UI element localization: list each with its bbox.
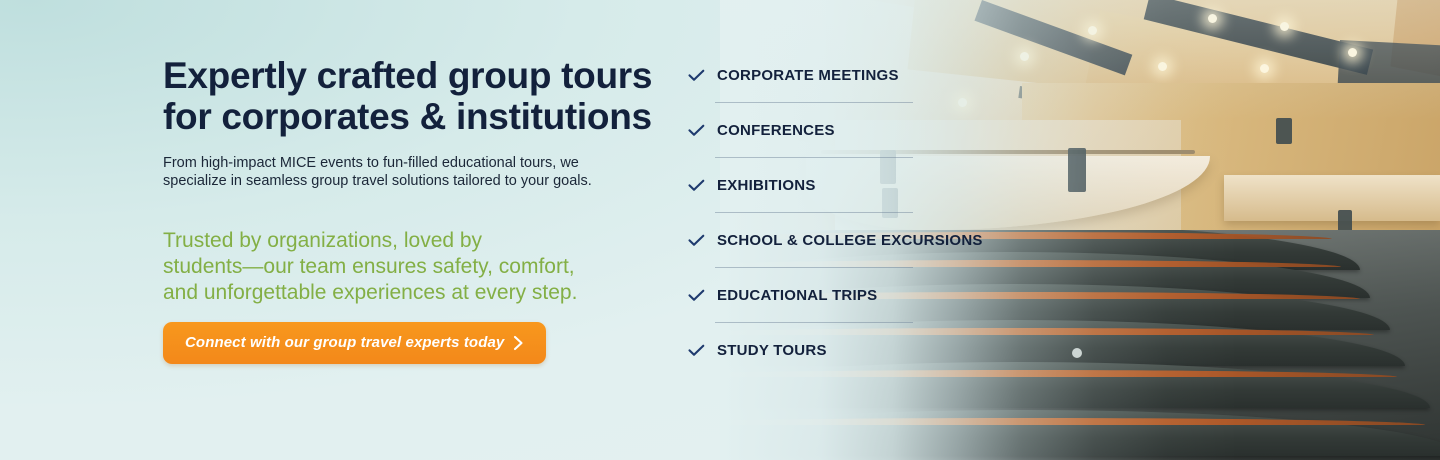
trust-line-1: Trusted by organizations, loved by [163, 229, 482, 252]
checklist-item-conferences[interactable]: CONFERENCES [688, 113, 928, 147]
checklist-divider [715, 267, 913, 268]
checklist-item-study-tours[interactable]: STUDY TOURS [688, 333, 928, 367]
hero-content: Expertly crafted group tours for corpora… [0, 0, 720, 460]
page-title: Expertly crafted group tours for corpora… [163, 55, 683, 137]
check-icon [688, 124, 705, 137]
checklist-item-label: EXHIBITIONS [717, 177, 816, 194]
hero-subtext: From high-impact MICE events to fun-fill… [163, 154, 663, 190]
checklist-item-corporate-meetings[interactable]: CORPORATE MEETINGS [688, 58, 928, 92]
spacer [688, 312, 928, 322]
subtext-line-1: From high-impact MICE events to fun-fill… [163, 155, 579, 171]
hero-trust-statement: Trusted by organizations, loved by stude… [163, 228, 683, 306]
spacer [688, 158, 928, 168]
spacer [688, 147, 928, 157]
checklist-item-exhibitions[interactable]: EXHIBITIONS [688, 168, 928, 202]
service-checklist: CORPORATE MEETINGS CONFERENCES EXHIBITIO… [688, 58, 928, 367]
trust-line-2: students—our team ensures safety, comfor… [163, 255, 575, 278]
checklist-divider [715, 322, 913, 323]
spacer [688, 103, 928, 113]
spacer [688, 268, 928, 278]
checklist-item-school-college-excursions[interactable]: SCHOOL & COLLEGE EXCURSIONS [688, 223, 928, 257]
checklist-item-label: CONFERENCES [717, 122, 835, 139]
checklist-divider [715, 157, 913, 158]
checklist-item-label: STUDY TOURS [717, 342, 827, 359]
checklist-item-educational-trips[interactable]: EDUCATIONAL TRIPS [688, 278, 928, 312]
cta-label: Connect with our group travel experts to… [185, 334, 504, 351]
check-icon [688, 344, 705, 357]
subtext-line-2: specialize in seamless group travel solu… [163, 173, 592, 189]
spacer [688, 92, 928, 102]
check-icon [688, 289, 705, 302]
checklist-item-label: SCHOOL & COLLEGE EXCURSIONS [717, 232, 983, 249]
spacer [688, 202, 928, 212]
headline-line-1: Expertly crafted group tours [163, 55, 652, 96]
checklist-divider [715, 212, 913, 213]
spacer [688, 323, 928, 333]
check-icon [688, 234, 705, 247]
chevron-right-icon [513, 335, 524, 351]
connect-experts-button[interactable]: Connect with our group travel experts to… [163, 322, 546, 364]
spacer [688, 213, 928, 223]
check-icon [688, 179, 705, 192]
checklist-item-label: EDUCATIONAL TRIPS [717, 287, 877, 304]
trust-line-3: and unforgettable experiences at every s… [163, 281, 577, 304]
check-icon [688, 69, 705, 82]
checklist-item-label: CORPORATE MEETINGS [717, 67, 899, 84]
group-tours-hero-banner: Expertly crafted group tours for corpora… [0, 0, 1440, 460]
headline-line-2: for corporates & institutions [163, 96, 652, 137]
checklist-divider [715, 102, 913, 103]
spacer [688, 257, 928, 267]
